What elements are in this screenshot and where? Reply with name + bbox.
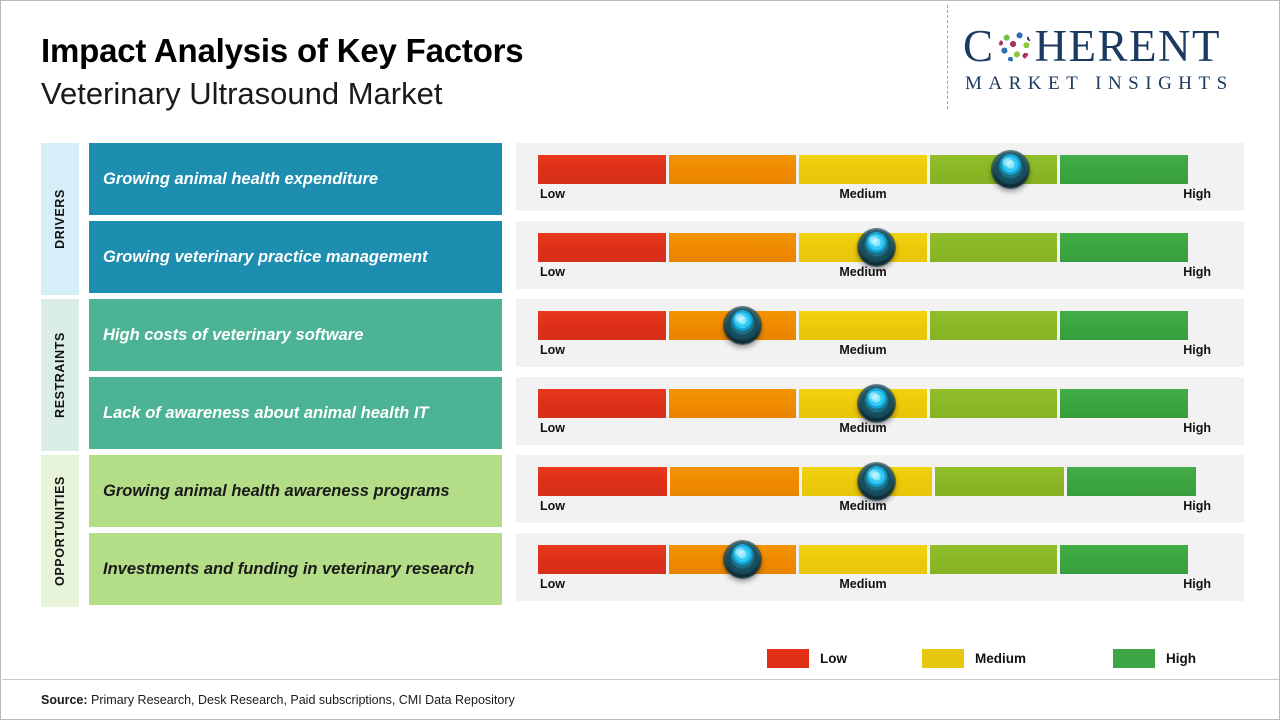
legend-swatch-high (1113, 649, 1155, 668)
gauge-segment-medium-high (930, 233, 1058, 262)
gauge-scale: Low Medium High (538, 265, 1188, 283)
gauge-track (538, 155, 1188, 184)
factor-label: Growing veterinary practice management (103, 246, 428, 268)
gauge-segment-low (538, 389, 666, 418)
gauge-segment-medium (799, 311, 927, 340)
factor-box[interactable]: Lack of awareness about animal health IT (89, 377, 502, 449)
gauge-segment-low-medium (670, 467, 799, 496)
scale-label-low: Low (540, 499, 565, 513)
scale-label-medium: Medium (839, 577, 886, 591)
page-title: Impact Analysis of Key Factors (41, 31, 523, 71)
gauge-segment-low (538, 545, 666, 574)
gauge-segment-low (538, 467, 667, 496)
scale-label-high: High (1183, 421, 1211, 435)
factor-label: Investments and funding in veterinary re… (103, 558, 474, 580)
legend-swatch-medium (922, 649, 964, 668)
gauge-panel: Low Medium High (516, 143, 1244, 211)
gauge-panel: Low Medium High (516, 533, 1244, 601)
category-label-drivers-text: DRIVERS (53, 189, 67, 249)
category-label-restraints: RESTRAINTS (41, 299, 79, 451)
scale-label-medium: Medium (839, 421, 886, 435)
factor-box[interactable]: Investments and funding in veterinary re… (89, 533, 502, 605)
scale-label-high: High (1183, 499, 1211, 513)
scale-label-medium: Medium (839, 265, 886, 279)
scale-label-high: High (1183, 265, 1211, 279)
gauge-segment-high (1060, 233, 1188, 262)
legend: Low Medium High (761, 645, 1221, 671)
source-label: Source: (41, 693, 88, 707)
factor-label: Growing animal health expenditure (103, 168, 378, 190)
gauge-segment-medium-high (935, 467, 1064, 496)
gauge-segment-high (1060, 389, 1188, 418)
legend-swatch-low (767, 649, 809, 668)
impact-marker[interactable] (724, 307, 761, 344)
gauge-track (538, 311, 1188, 340)
gauge-scale: Low Medium High (538, 187, 1188, 205)
category-label-opportunities: OPPORTUNITIES (41, 455, 79, 607)
legend-label-high: High (1166, 651, 1196, 666)
legend-item-high: High (1113, 645, 1196, 671)
gauge-panel: Low Medium High (516, 221, 1244, 289)
gauge-segment-medium-high (930, 389, 1058, 418)
gauge-segment-low-medium (669, 389, 797, 418)
scale-label-high: High (1183, 343, 1211, 357)
scale-label-low: Low (540, 577, 565, 591)
gauge-panel: Low Medium High (516, 299, 1244, 367)
gauge-segment-low (538, 155, 666, 184)
logo-tagline: MARKET INSIGHTS (963, 73, 1263, 95)
gauge-segment-high (1067, 467, 1196, 496)
legend-label-low: Low (820, 651, 847, 666)
gauge-segment-high (1060, 311, 1188, 340)
infographic-page: Impact Analysis of Key Factors Veterinar… (0, 0, 1280, 720)
gauge-segment-medium (799, 155, 927, 184)
factor-box[interactable]: Growing animal health expenditure (89, 143, 502, 215)
logo-word-rest: HERENT (1035, 24, 1221, 69)
company-logo: C HERENT MARKET INSIGHTS (963, 21, 1263, 107)
factor-label: Lack of awareness about animal health IT (103, 402, 429, 424)
gauge-segment-medium (799, 545, 927, 574)
globe-icon (996, 27, 1034, 65)
gauge-segment-low-medium (669, 155, 797, 184)
gauge-segment-medium-high (930, 311, 1058, 340)
impact-marker[interactable] (724, 541, 761, 578)
scale-label-high: High (1183, 577, 1211, 591)
factor-box[interactable]: Growing veterinary practice management (89, 221, 502, 293)
title-block: Impact Analysis of Key Factors Veterinar… (41, 31, 523, 113)
gauge-segment-medium-high (930, 545, 1058, 574)
scale-label-low: Low (540, 187, 565, 201)
source-line: Source: Primary Research, Desk Research,… (41, 693, 515, 707)
impact-marker[interactable] (992, 151, 1029, 188)
logo-letter-c: C (963, 24, 995, 69)
gauge-segment-high (1060, 155, 1188, 184)
gauge-panel: Low Medium High (516, 455, 1244, 523)
scale-label-low: Low (540, 265, 565, 279)
scale-label-low: Low (540, 421, 565, 435)
footer-divider (2, 679, 1279, 680)
scale-label-low: Low (540, 343, 565, 357)
legend-item-medium: Medium (922, 645, 1026, 671)
factor-box[interactable]: High costs of veterinary software (89, 299, 502, 371)
gauge-scale: Low Medium High (538, 421, 1188, 439)
factor-label: Growing animal health awareness programs (103, 480, 450, 502)
impact-marker[interactable] (858, 463, 895, 500)
gauge-scale: Low Medium High (538, 343, 1188, 361)
gauge-segment-low (538, 311, 666, 340)
gauge-track (538, 545, 1188, 574)
scale-label-medium: Medium (839, 187, 886, 201)
gauge-segment-low (538, 233, 666, 262)
gauge-scale: Low Medium High (538, 577, 1188, 595)
scale-label-high: High (1183, 187, 1211, 201)
header: Impact Analysis of Key Factors Veterinar… (1, 1, 1280, 133)
scale-label-medium: Medium (839, 499, 886, 513)
gauge-segment-high (1060, 545, 1188, 574)
impact-marker[interactable] (858, 229, 895, 266)
logo-wordmark: C HERENT (963, 21, 1263, 71)
gauge-segment-low-medium (669, 233, 797, 262)
source-value: Primary Research, Desk Research, Paid su… (88, 693, 515, 707)
logo-divider (947, 5, 948, 109)
gauge-panel: Low Medium High (516, 377, 1244, 445)
category-label-restraints-text: RESTRAINTS (53, 332, 67, 418)
category-label-opportunities-text: OPPORTUNITIES (53, 476, 67, 586)
page-subtitle: Veterinary Ultrasound Market (41, 75, 523, 114)
category-label-drivers: DRIVERS (41, 143, 79, 295)
impact-marker[interactable] (858, 385, 895, 422)
factor-box[interactable]: Growing animal health awareness programs (89, 455, 502, 527)
scale-label-medium: Medium (839, 343, 886, 357)
legend-label-medium: Medium (975, 651, 1026, 666)
legend-item-low: Low (767, 645, 847, 671)
factor-label: High costs of veterinary software (103, 324, 363, 346)
gauge-scale: Low Medium High (538, 499, 1188, 517)
